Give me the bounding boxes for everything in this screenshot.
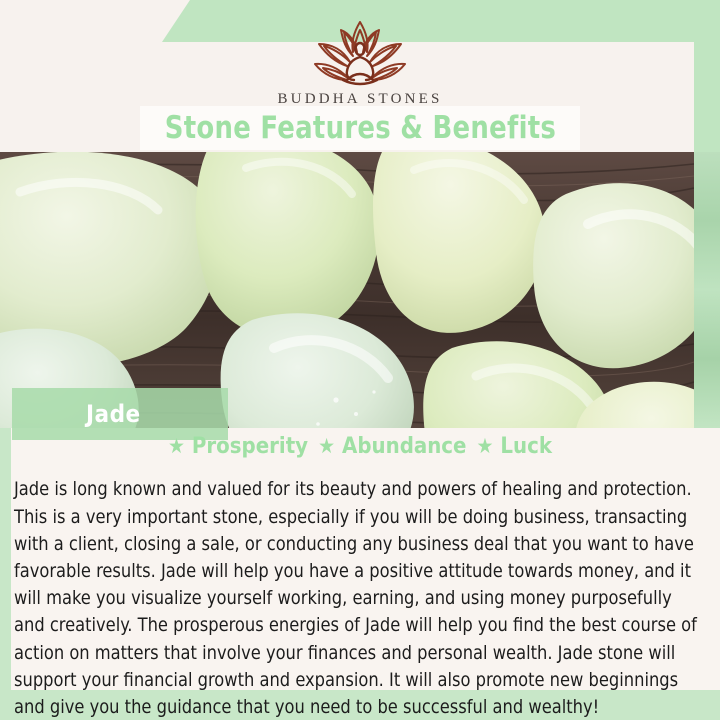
keyword-item-abundance: ★ Abundance — [318, 434, 466, 459]
keyword-item-prosperity: ★ Prosperity — [168, 434, 308, 459]
lotus-meditation-icon — [285, 16, 435, 88]
description-text: Jade is long known and valued for its be… — [14, 476, 698, 720]
page-title: Stone Features & Benefits — [164, 110, 555, 146]
stone-name-text: Jade — [86, 400, 141, 428]
title-banner: Stone Features & Benefits — [140, 106, 580, 150]
photo-right-green-edge — [694, 152, 720, 428]
keyword-list: ★ Prosperity ★ Abundance ★ Luck — [0, 430, 720, 462]
keyword-label: Abundance — [342, 434, 466, 459]
keyword-label: Luck — [500, 434, 552, 459]
keyword-label: Prosperity — [192, 434, 308, 459]
star-icon: ★ — [476, 436, 493, 457]
star-icon: ★ — [168, 436, 185, 457]
stone-info-card: BUDDHA STONES Stone Features & Benefits — [0, 0, 720, 720]
stone-photo — [0, 152, 694, 428]
keyword-item-luck: ★ Luck — [476, 434, 552, 459]
brand-logo: BUDDHA STONES — [0, 16, 720, 108]
star-icon: ★ — [318, 436, 335, 457]
